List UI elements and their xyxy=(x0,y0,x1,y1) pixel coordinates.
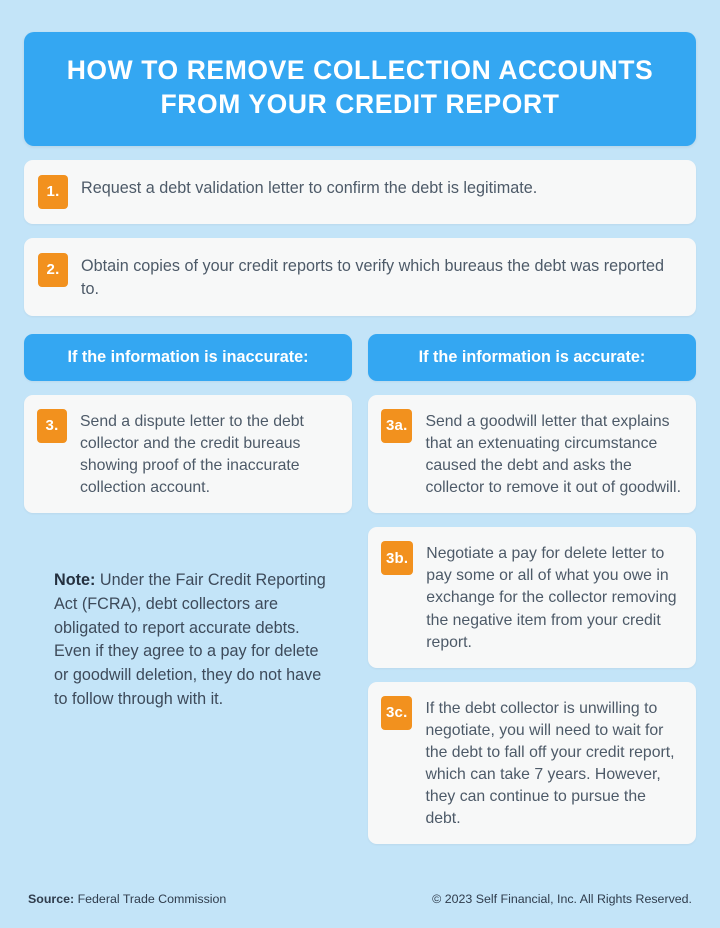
column-header-inaccurate: If the information is inaccurate: xyxy=(24,334,352,381)
footer-source: Source: Federal Trade Commission xyxy=(28,892,226,906)
footer-source-value: Federal Trade Commission xyxy=(74,892,226,906)
column-inaccurate: If the information is inaccurate: 3. Sen… xyxy=(24,334,352,711)
footer-copyright: © 2023 Self Financial, Inc. All Rights R… xyxy=(432,892,692,906)
footer: Source: Federal Trade Commission © 2023 … xyxy=(0,892,720,906)
step-card-3: 3. Send a dispute letter to the debt col… xyxy=(24,395,352,513)
step-badge-2: 2. xyxy=(38,253,68,287)
step-badge-3a: 3a. xyxy=(381,409,412,443)
step-card-2: 2. Obtain copies of your credit reports … xyxy=(24,238,696,316)
step-text-3c: If the debt collector is unwilling to ne… xyxy=(425,695,682,831)
step-text-3b: Negotiate a pay for delete letter to pay… xyxy=(426,540,682,654)
column-body-accurate: 3a. Send a goodwill letter that explains… xyxy=(368,395,696,845)
top-steps-list: 1. Request a debt validation letter to c… xyxy=(24,160,696,316)
step-card-3c: 3c. If the debt collector is unwilling t… xyxy=(368,682,696,845)
header-banner: HOW TO REMOVE COLLECTION ACCOUNTS FROM Y… xyxy=(24,32,696,146)
column-body-inaccurate: 3. Send a dispute letter to the debt col… xyxy=(24,395,352,513)
note-text: Under the Fair Credit Reporting Act (FCR… xyxy=(54,571,326,707)
step-text-3: Send a dispute letter to the debt collec… xyxy=(80,408,338,499)
infographic-root: HOW TO REMOVE COLLECTION ACCOUNTS FROM Y… xyxy=(0,0,720,928)
column-header-accurate: If the information is accurate: xyxy=(368,334,696,381)
step-text-3a: Send a goodwill letter that explains tha… xyxy=(425,408,682,499)
page-title: HOW TO REMOVE COLLECTION ACCOUNTS FROM Y… xyxy=(54,54,666,122)
step-text-2: Obtain copies of your credit reports to … xyxy=(81,252,674,301)
step-badge-3c: 3c. xyxy=(381,696,412,730)
step-card-3b: 3b. Negotiate a pay for delete letter to… xyxy=(368,527,696,668)
step-badge-3b: 3b. xyxy=(381,541,413,575)
step-badge-1: 1. xyxy=(38,175,68,209)
columns-area: If the information is inaccurate: 3. Sen… xyxy=(24,334,696,845)
note-label: Note: xyxy=(54,571,95,589)
footer-source-label: Source: xyxy=(28,892,74,906)
note-block: Note: Under the Fair Credit Reporting Ac… xyxy=(24,569,352,711)
column-accurate: If the information is accurate: 3a. Send… xyxy=(368,334,696,845)
step-text-1: Request a debt validation letter to conf… xyxy=(81,174,537,200)
step-card-3a: 3a. Send a goodwill letter that explains… xyxy=(368,395,696,513)
step-badge-3: 3. xyxy=(37,409,67,443)
step-card-1: 1. Request a debt validation letter to c… xyxy=(24,160,696,224)
